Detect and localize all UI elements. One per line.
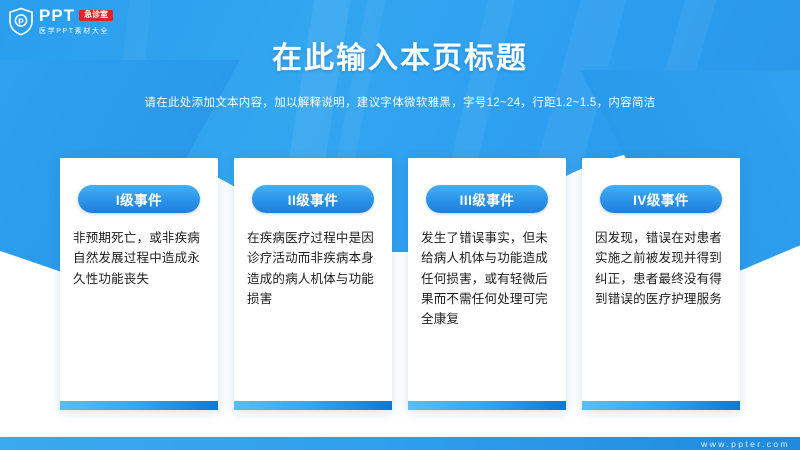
event-card-badge: IV级事件 <box>600 185 722 213</box>
event-card-accent-bar <box>60 401 218 410</box>
slide-canvas: P PPT 急诊室 医学PPT素材大全 在此输入本页标题 请在此处添加文本内容，… <box>0 0 800 450</box>
logo-badge: 急诊室 <box>79 10 113 22</box>
event-card-body: 在疾病医疗过程中是因诊疗活动而非疾病本身造成的病人机体与功能损害 <box>247 228 379 309</box>
event-card-badge: II级事件 <box>252 185 374 213</box>
page-subtitle: 请在此处添加文本内容，加以解释说明，建议字体微软雅黑，字号12~24，行距1.2… <box>0 94 800 110</box>
brand-logo[interactable]: P PPT 急诊室 医学PPT素材大全 <box>8 7 113 36</box>
footer-watermark: www.ppter.com <box>701 439 790 449</box>
event-card-accent-bar <box>582 401 740 410</box>
logo-text-block: PPT 急诊室 医学PPT素材大全 <box>39 7 113 36</box>
event-card[interactable]: II级事件 在疾病医疗过程中是因诊疗活动而非疾病本身造成的病人机体与功能损害 <box>234 158 392 410</box>
event-card[interactable]: IV级事件 因发现，错误在对患者实施之前被发现并得到纠正，患者最终没有得到错误的… <box>582 158 740 410</box>
event-card[interactable]: III级事件 发生了错误事实，但未给病人机体与功能造成任何损害，或有轻微后果而不… <box>408 158 566 410</box>
event-card-body: 非预期死亡，或非疾病自然发展过程中造成永久性功能丧失 <box>73 228 205 289</box>
logo-brand-name: PPT <box>39 7 75 24</box>
event-card-badge: I级事件 <box>78 185 200 213</box>
page-title: 在此输入本页标题 <box>0 33 800 77</box>
event-card-badge: III级事件 <box>426 185 548 213</box>
svg-text:P: P <box>18 16 24 26</box>
event-card-accent-bar <box>234 401 392 410</box>
event-card-body: 因发现，错误在对患者实施之前被发现并得到纠正，患者最终没有得到错误的医疗护理服务 <box>595 228 727 309</box>
logo-title-row: PPT 急诊室 <box>39 7 113 24</box>
logo-tagline: 医学PPT素材大全 <box>39 26 113 36</box>
event-card-body: 发生了错误事实，但未给病人机体与功能造成任何损害，或有轻微后果而不需任何处理可完… <box>421 228 553 329</box>
event-card[interactable]: I级事件 非预期死亡，或非疾病自然发展过程中造成永久性功能丧失 <box>60 158 218 410</box>
footer-bar <box>0 437 800 450</box>
event-level-card-row: I级事件 非预期死亡，或非疾病自然发展过程中造成永久性功能丧失 II级事件 在疾… <box>60 158 740 410</box>
event-card-accent-bar <box>408 401 566 410</box>
shield-p-icon: P <box>8 7 34 36</box>
